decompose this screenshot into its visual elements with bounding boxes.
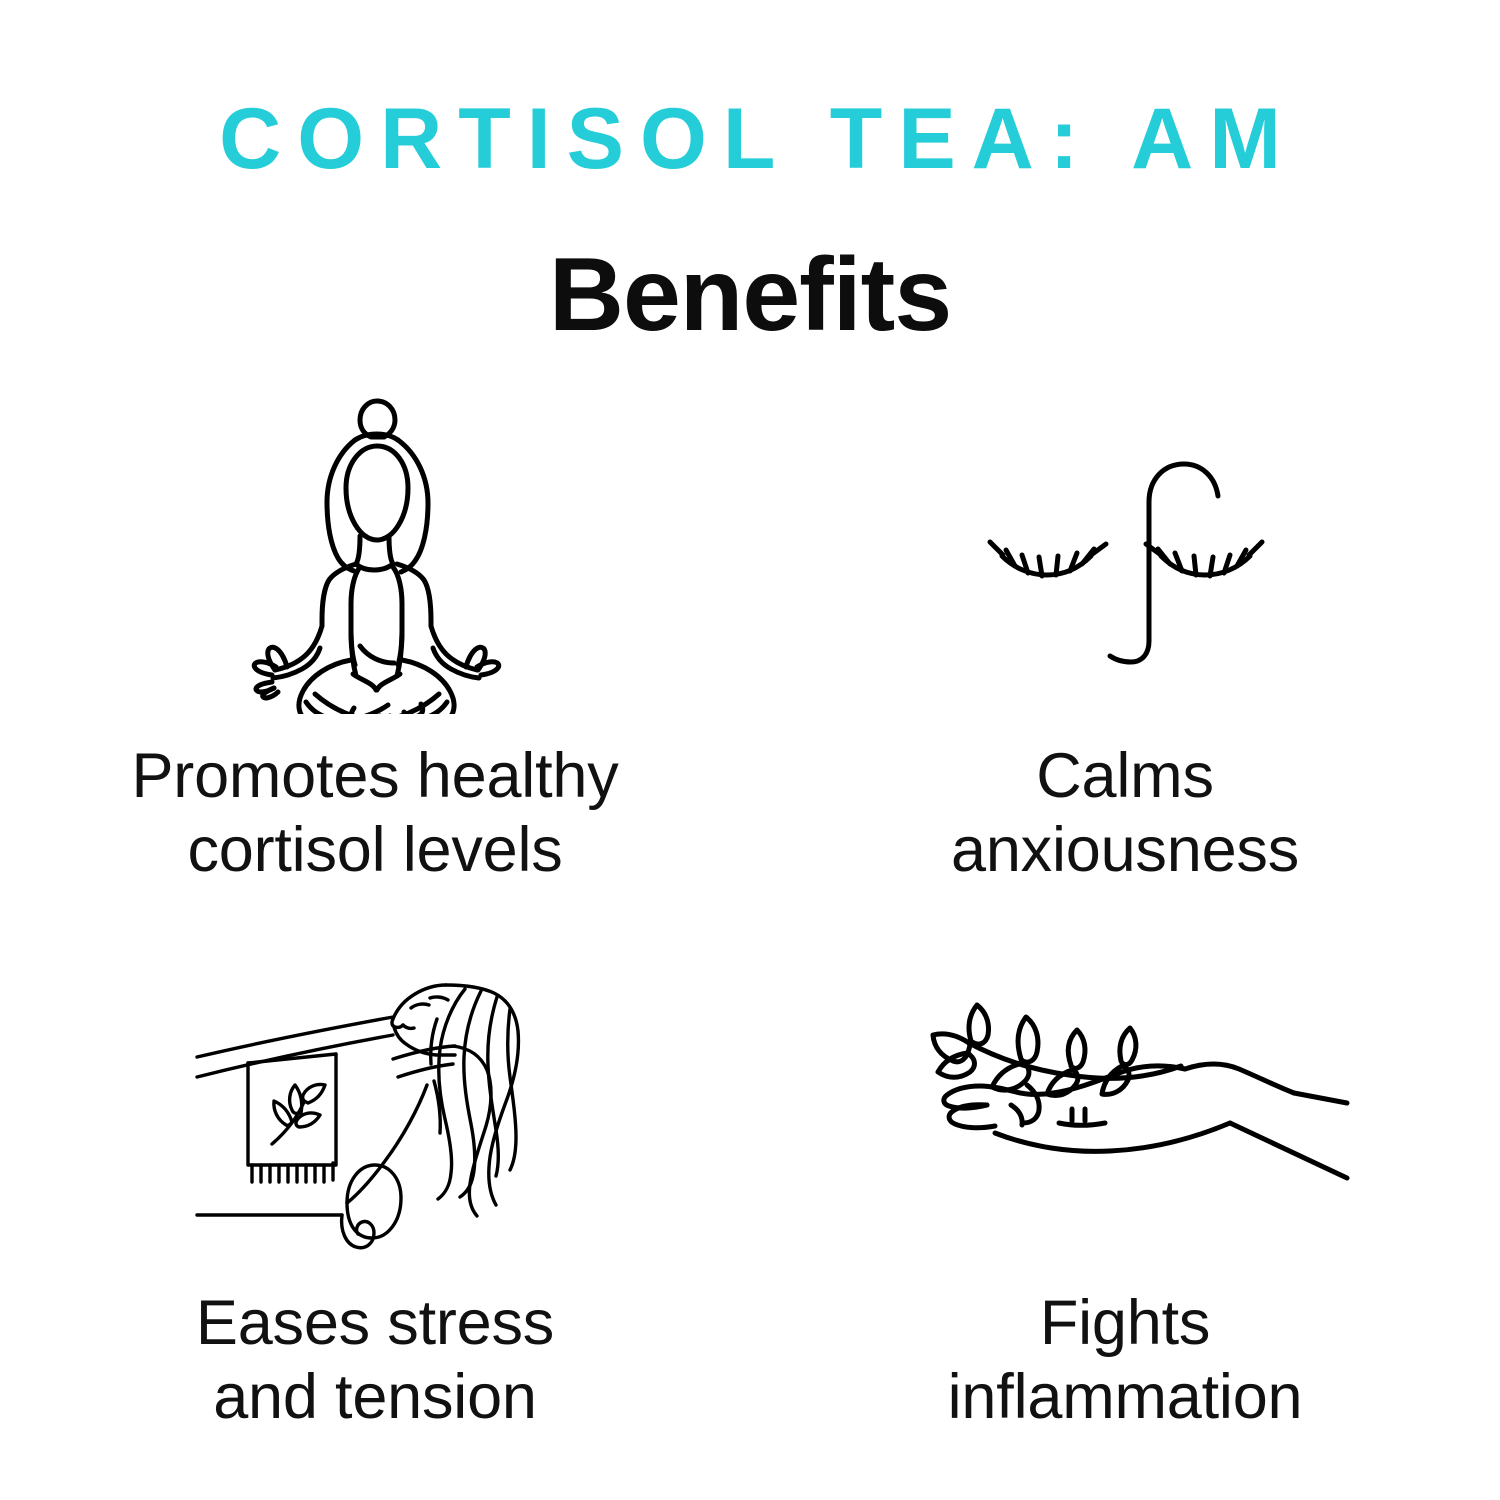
benefits-grid: Promotes healthy cortisol levels <box>0 376 1500 1500</box>
hand-holding-branch-icon <box>750 936 1500 1266</box>
benefit-label-line-2: and tension <box>0 1360 750 1434</box>
benefit-label-line-1: Fights <box>750 1286 1500 1360</box>
benefit-label-line-2: inflammation <box>750 1360 1500 1434</box>
benefit-label: Calms anxiousness <box>750 739 1500 888</box>
spa-relaxing-woman-icon <box>0 936 750 1266</box>
section-heading: Benefits <box>0 243 1500 347</box>
benefit-item-stress: Eases stress and tension <box>0 936 750 1500</box>
benefit-label-line-2: anxiousness <box>750 813 1500 887</box>
benefit-label-line-1: Calms <box>750 739 1500 813</box>
benefit-label: Promotes healthy cortisol levels <box>0 739 750 888</box>
benefit-label: Eases stress and tension <box>0 1286 750 1435</box>
benefit-label-line-1: Eases stress <box>0 1286 750 1360</box>
benefit-label: Fights inflammation <box>750 1286 1500 1435</box>
benefit-item-cortisol: Promotes healthy cortisol levels <box>0 376 750 936</box>
page-title: CORTISOL TEA: AM <box>0 96 1500 182</box>
benefit-item-inflammation: Fights inflammation <box>750 936 1500 1500</box>
closed-eyes-face-icon <box>750 376 1500 721</box>
benefits-poster: CORTISOL TEA: AM Benefits <box>0 0 1500 1500</box>
benefit-label-line-1: Promotes healthy <box>0 739 750 813</box>
meditation-lotus-pose-icon <box>0 376 750 721</box>
benefit-item-anxiousness: Calms anxiousness <box>750 376 1500 936</box>
benefit-label-line-2: cortisol levels <box>0 813 750 887</box>
